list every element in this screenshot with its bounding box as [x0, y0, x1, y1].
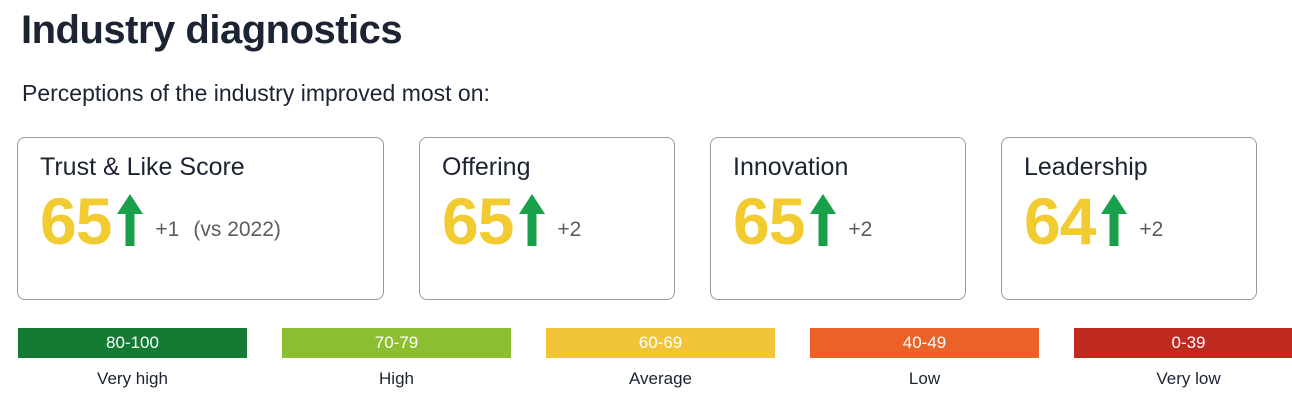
legend-swatch: 0-39 [1074, 328, 1292, 358]
page-title: Industry diagnostics [21, 8, 402, 52]
legend-swatch: 60-69 [546, 328, 775, 358]
legend-item-very-low: 0-39 Very low [1074, 328, 1292, 389]
metric-card-label: Offering [442, 154, 674, 182]
arrow-up-icon [517, 192, 547, 248]
arrow-up-icon [808, 192, 838, 248]
legend-caption: Very high [18, 369, 247, 389]
metric-value: 65 [733, 191, 804, 252]
metric-delta: +1 [155, 218, 179, 242]
metric-value: 64 [1024, 191, 1095, 252]
legend-caption: High [282, 369, 511, 389]
legend-caption: Average [546, 369, 775, 389]
metric-delta: +2 [848, 218, 872, 242]
arrow-up-icon [115, 192, 145, 248]
metric-card-value-row: 65 +1 (vs 2022) [40, 191, 383, 252]
metric-card-value-row: 64 +2 [1024, 191, 1256, 252]
legend-item-very-high: 80-100 Very high [18, 328, 247, 389]
metric-delta: +2 [557, 218, 581, 242]
legend-item-high: 70-79 High [282, 328, 511, 389]
metric-value: 65 [442, 191, 513, 252]
score-band-legend: 80-100 Very high 70-79 High 60-69 Averag… [18, 328, 1274, 389]
arrow-up-icon [1099, 192, 1129, 248]
metric-card-trust-like-score[interactable]: Trust & Like Score 65 +1 (vs 2022) [17, 137, 384, 300]
metric-card-leadership[interactable]: Leadership 64 +2 [1001, 137, 1257, 300]
metric-card-label: Leadership [1024, 154, 1256, 182]
metric-value: 65 [40, 191, 111, 252]
metric-delta: +2 [1139, 218, 1163, 242]
legend-caption: Very low [1074, 369, 1292, 389]
legend-swatch: 40-49 [810, 328, 1039, 358]
metric-card-row: Trust & Like Score 65 +1 (vs 2022) Offer… [17, 137, 1275, 300]
metric-card-value-row: 65 +2 [733, 191, 965, 252]
legend-item-low: 40-49 Low [810, 328, 1039, 389]
metric-card-offering[interactable]: Offering 65 +2 [419, 137, 675, 300]
legend-item-average: 60-69 Average [546, 328, 775, 389]
legend-swatch: 80-100 [18, 328, 247, 358]
metric-card-innovation[interactable]: Innovation 65 +2 [710, 137, 966, 300]
page-subtitle: Perceptions of the industry improved mos… [22, 80, 490, 108]
metric-card-value-row: 65 +2 [442, 191, 674, 252]
metric-comparison-period: (vs 2022) [193, 218, 281, 242]
legend-caption: Low [810, 369, 1039, 389]
metric-card-label: Innovation [733, 154, 965, 182]
legend-swatch: 70-79 [282, 328, 511, 358]
industry-diagnostics-panel: Industry diagnostics Perceptions of the … [0, 0, 1292, 403]
metric-card-label: Trust & Like Score [40, 154, 383, 182]
